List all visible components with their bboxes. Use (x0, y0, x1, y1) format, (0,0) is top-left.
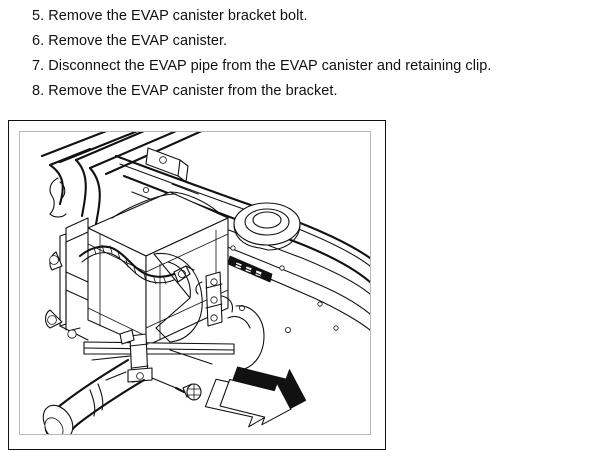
step-text: Remove the EVAP canister. (48, 33, 227, 49)
bracket-bolt (152, 378, 201, 400)
direction-arrow-icon (202, 357, 315, 431)
canister-bracket (46, 218, 89, 340)
figure-inner-border (19, 131, 371, 435)
list-item: 5. Remove the EVAP canister bracket bolt… (32, 4, 592, 29)
step-number: 5. (32, 8, 48, 24)
evap-canister (88, 192, 228, 346)
evap-canister-assembly-diagram (20, 132, 370, 434)
step-text: Disconnect the EVAP pipe from the EVAP c… (48, 58, 491, 74)
step-number: 8. (32, 83, 48, 99)
list-item: 8. Remove the EVAP canister from the bra… (32, 79, 592, 104)
step-number: 6. (32, 33, 48, 49)
list-item: 7. Disconnect the EVAP pipe from the EVA… (32, 54, 592, 79)
rail-slot-detail (226, 256, 272, 282)
figure-frame (8, 120, 386, 450)
step-text: Remove the EVAP canister from the bracke… (48, 83, 337, 99)
step-text: Remove the EVAP canister bracket bolt. (48, 8, 307, 24)
instruction-step-list: 5. Remove the EVAP canister bracket bolt… (32, 4, 592, 104)
spring-seat-cup (234, 203, 300, 250)
step-number: 7. (32, 58, 48, 74)
document-page: 5. Remove the EVAP canister bracket bolt… (0, 0, 601, 441)
list-item: 6. Remove the EVAP canister. (32, 29, 592, 54)
